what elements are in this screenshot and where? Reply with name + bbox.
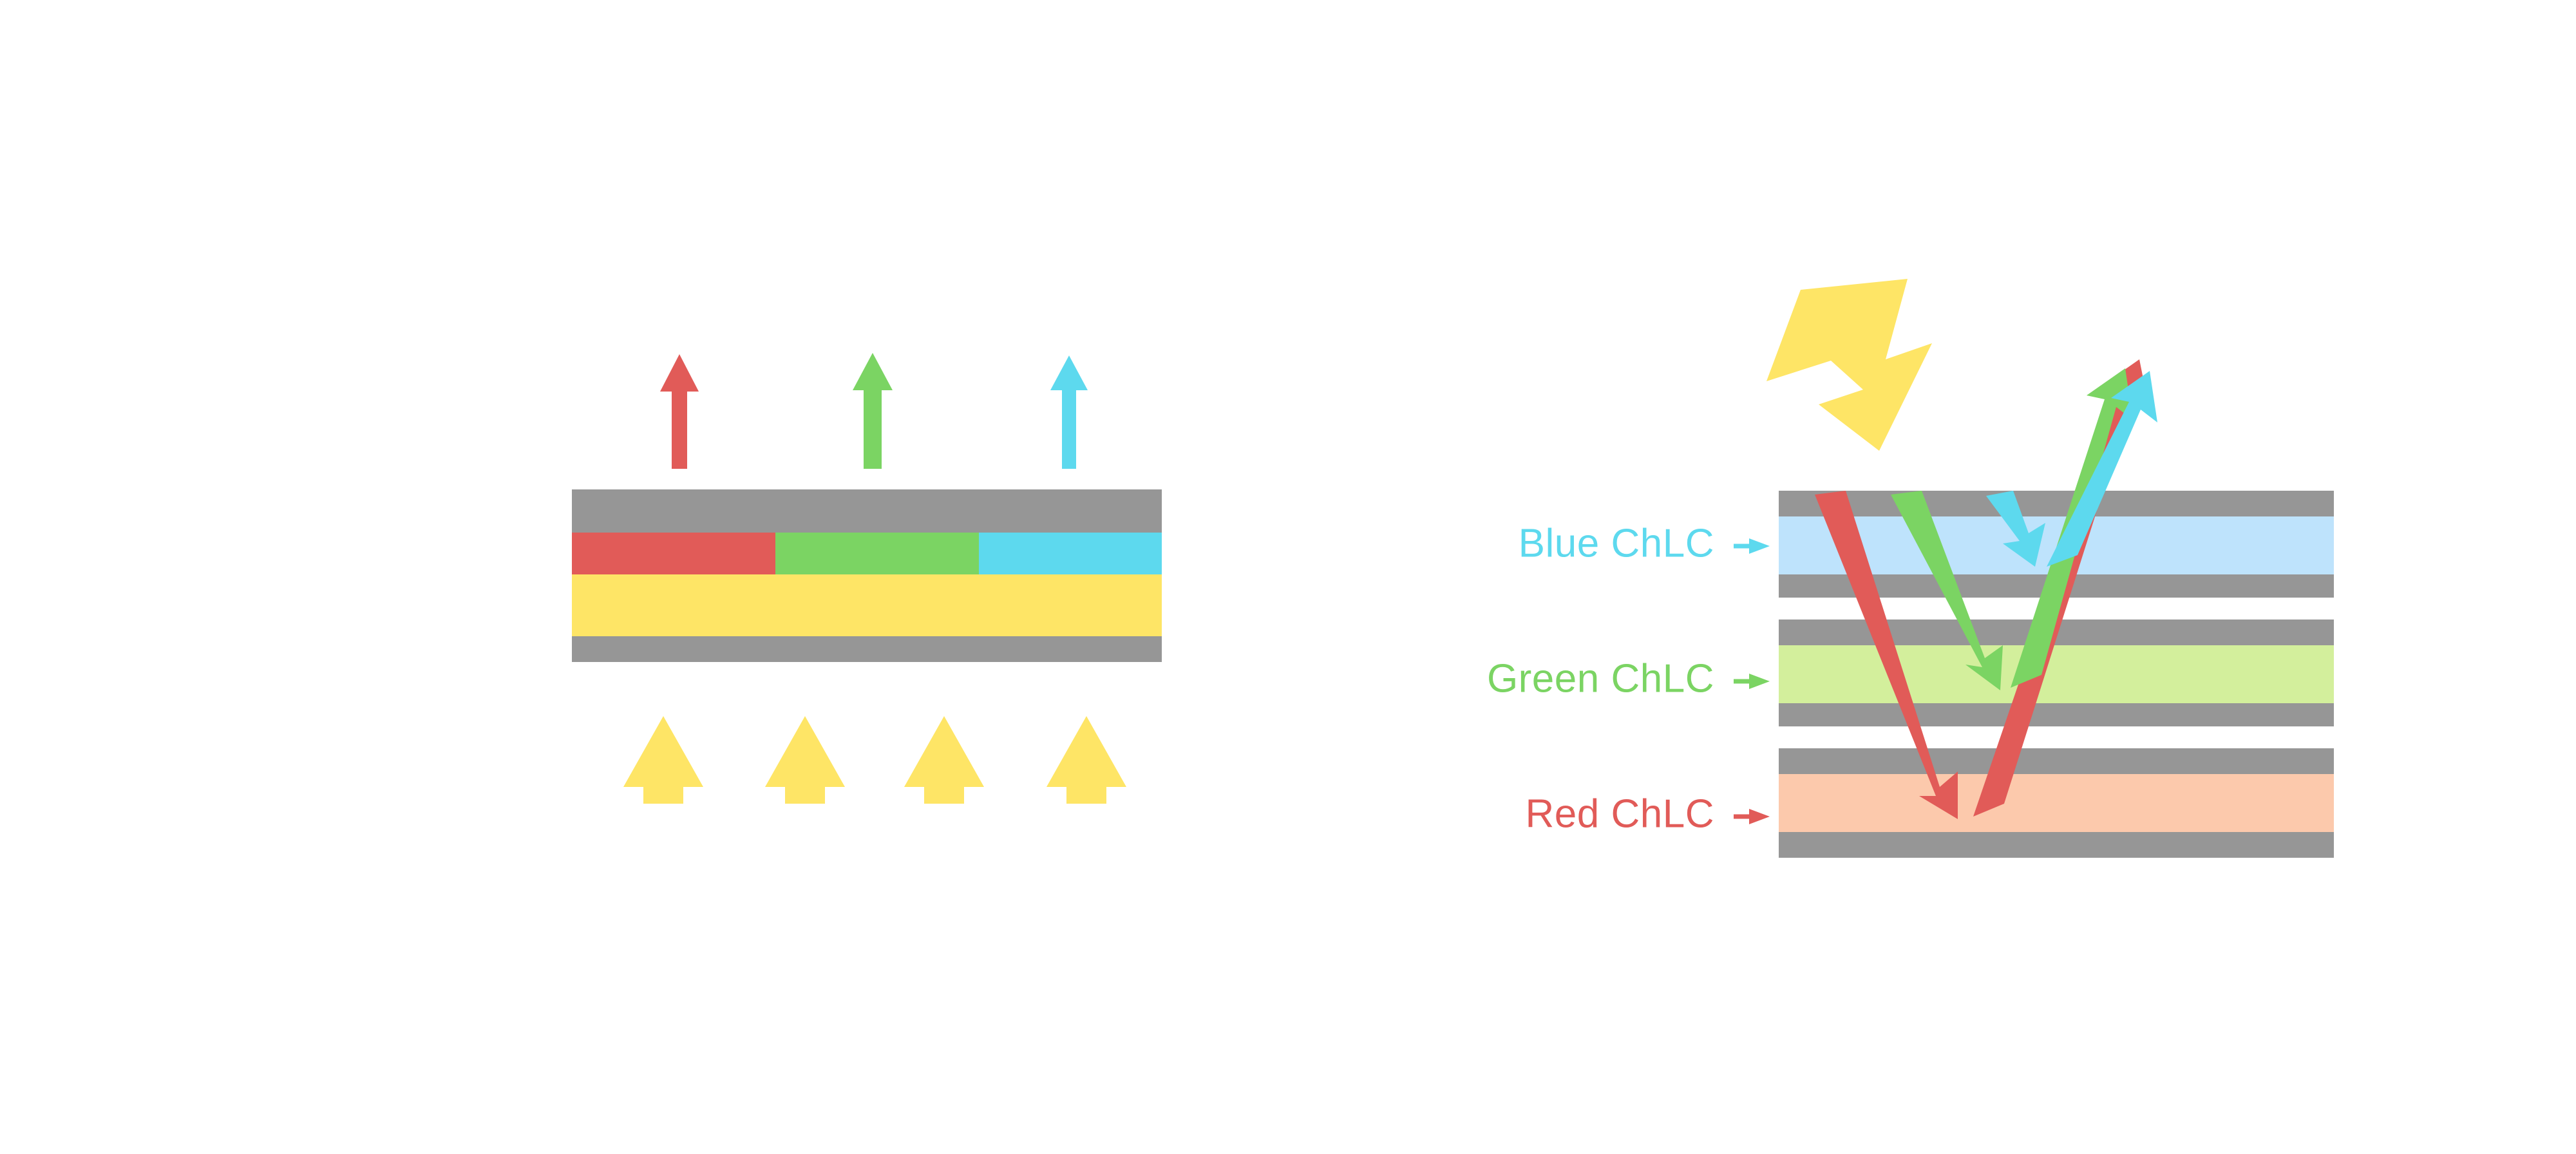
backlight-arrow-1 xyxy=(623,716,703,804)
green-chlc-label: Green ChLC xyxy=(1487,656,1714,701)
green-output-arrow xyxy=(853,353,893,469)
blue-chlc-label: Blue ChLC xyxy=(1519,521,1714,565)
yellow-emission-layer xyxy=(572,574,1162,636)
bottom-substrate xyxy=(572,636,1162,662)
red-chlc-bottom-substrate xyxy=(1779,832,2334,858)
red-chlc-layer xyxy=(1779,774,2334,832)
green-chlc-layer xyxy=(1779,645,2334,703)
green-chlc-label-group: Green ChLC xyxy=(1487,656,1770,701)
blue-chlc-label-group: Blue ChLC xyxy=(1519,521,1770,565)
blue-output-arrow xyxy=(1050,355,1088,469)
red-chlc-label-group: Red ChLC xyxy=(1526,791,1770,836)
red-output-arrow xyxy=(660,354,699,469)
left-panel-emissive-stack xyxy=(572,353,1162,804)
blue-filter-segment xyxy=(979,533,1162,574)
red-chlc-label: Red ChLC xyxy=(1526,791,1714,836)
chlc-display-diagram: Blue ChLC Green ChLC Red ChLC xyxy=(0,0,2576,1154)
backlight-arrow-4 xyxy=(1046,716,1126,804)
green-chlc-bottom-substrate xyxy=(1779,703,2334,726)
yellow-backlight-arrows xyxy=(623,716,1126,804)
red-chlc-top-substrate xyxy=(1779,748,2334,774)
right-panel-reflective-stack: Blue ChLC Green ChLC Red ChLC xyxy=(1487,279,2334,858)
green-label-arrow-icon xyxy=(1734,674,1770,689)
backlight-arrow-3 xyxy=(904,716,984,804)
backlight-arrow-2 xyxy=(765,716,845,804)
green-filter-segment xyxy=(775,533,979,574)
red-filter-segment xyxy=(572,533,775,574)
top-substrate xyxy=(572,489,1162,533)
ambient-light-arrow xyxy=(1766,279,1932,451)
red-label-arrow-icon xyxy=(1734,809,1770,824)
figure-canvas: Blue ChLC Green ChLC Red ChLC xyxy=(0,0,2576,1154)
left-stack-layers xyxy=(572,489,1162,662)
blue-chlc-top-substrate xyxy=(1779,491,2334,516)
blue-label-arrow-icon xyxy=(1734,538,1770,554)
